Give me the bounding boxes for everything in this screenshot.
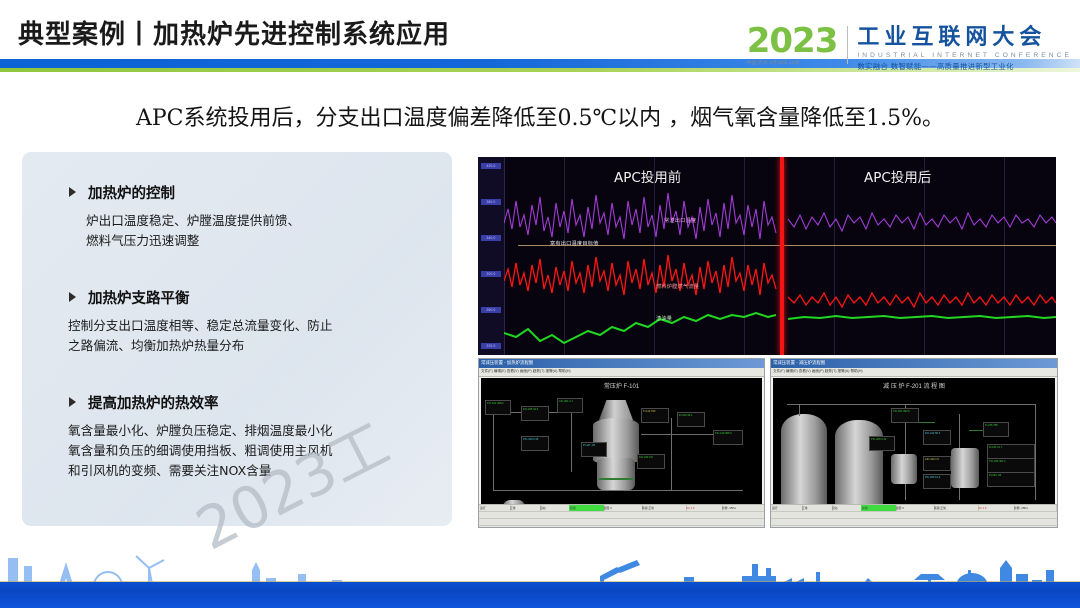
page-title: 典型案例丨加热炉先进控制系统应用 bbox=[18, 14, 450, 51]
dcs-window-title: 常减压装置 - 减压炉流程图 bbox=[773, 360, 825, 366]
status-cell[interactable]: 炉膛 -35Pa bbox=[721, 505, 765, 511]
status-cell[interactable]: 运行 bbox=[771, 505, 803, 511]
dcs-tag[interactable]: FI-220 18.4 bbox=[677, 412, 705, 427]
curve-label-outlet-temp: 常渣出口温度 bbox=[664, 217, 696, 224]
phase-label-after: APC投用后 bbox=[864, 166, 931, 186]
logo-slogan: 数实融合 数智赋能——高质量推进新型工业化 bbox=[857, 61, 1072, 72]
dcs-tag[interactable]: FIC-212 55.3 bbox=[923, 430, 951, 445]
footer-skyline bbox=[0, 550, 1080, 608]
dcs-menu-items: 文件(F) 编辑(E) 查看(V) 画面(P) 趋势(T) 报警(A) 帮助(H… bbox=[481, 369, 571, 374]
logo-year-block: 2023 中国·苏州 8月18日-19日 bbox=[747, 26, 838, 66]
bullet-title: 加热炉的控制 bbox=[88, 182, 175, 203]
bullet-title: 加热炉支路平衡 bbox=[88, 287, 190, 308]
pipe-vertical bbox=[1035, 404, 1036, 500]
y-tick-label: 380.0 bbox=[481, 199, 501, 205]
curve-purple bbox=[504, 193, 776, 239]
dcs-process-diagram: 常压炉 F-101 TIC-101 368.2 FIC-205 42.6 PIC… bbox=[481, 378, 762, 505]
bullet-line: 氧含量最小化、炉膛负压稳定、排烟温度最小化 bbox=[68, 421, 436, 441]
curve-red bbox=[504, 255, 776, 295]
status-row: 运行 正常 自动 投用 报警 0 联锁 正常 O2 1.5 炉膛 -28Pa bbox=[771, 505, 1057, 512]
chart-y-axis: 420.0 380.0 340.0 300.0 260.0 220.0 bbox=[478, 157, 505, 355]
dcs-tag[interactable]: TIC-201 392.5 bbox=[891, 408, 919, 423]
dcs-tag[interactable]: FIC-260 12.3 bbox=[923, 474, 951, 489]
tower-vessel-1 bbox=[781, 414, 827, 505]
phase-label-before: APC投用前 bbox=[614, 166, 681, 186]
bullet-heading: 加热炉支路平衡 bbox=[68, 287, 436, 308]
bullet-heading: 加热炉的控制 bbox=[68, 182, 436, 203]
curve-green bbox=[504, 313, 776, 343]
dcs-tag[interactable]: TI-225 788 bbox=[983, 422, 1009, 437]
dcs-tag[interactable]: PI-117 -35 bbox=[581, 442, 607, 457]
dcs-tag[interactable]: AIC-310 1.5 bbox=[923, 456, 951, 471]
status-cell[interactable]: O2 1.5 bbox=[977, 505, 1015, 511]
bullet-group-1: 加热炉的控制 炉出口温度稳定、炉膛温度提供前馈、 燃料气压力迅速调整 bbox=[68, 182, 436, 251]
logo-divider bbox=[847, 26, 848, 64]
y-tick-label: 340.0 bbox=[481, 235, 501, 241]
dcs-tag[interactable]: FIC-205 42.6 bbox=[521, 406, 549, 421]
bullet-group-3: 提高加热炉的热效率 氧含量最小化、炉膛负压稳定、排烟温度最小化 氧含量和负压的细… bbox=[68, 392, 436, 481]
status-cell[interactable]: 正常 bbox=[801, 505, 833, 511]
status-cell[interactable]: 报警 0 bbox=[603, 505, 643, 511]
bullet-title: 提高加热炉的热效率 bbox=[88, 392, 219, 413]
dcs-tag[interactable]: AIC-301 2.1 bbox=[557, 398, 583, 413]
dcs-screenshot-right[interactable]: 常减压装置 - 减压炉流程图 文件(F) 编辑(E) 查看(V) 画面(P) 趋… bbox=[770, 358, 1058, 528]
bullet-body: 控制分支出口温度相等、稳定总流量变化、防止 之路偏流、均衡加热炉热量分布 bbox=[68, 316, 436, 356]
bullet-body: 炉出口温度稳定、炉膛温度提供前馈、 燃料气压力迅速调整 bbox=[86, 211, 436, 251]
furnace-chamber bbox=[597, 458, 635, 490]
y-tick: 340.0 bbox=[481, 235, 501, 241]
tower-nozzle bbox=[799, 404, 800, 416]
dcs-tag[interactable]: PIC-206 0.42 bbox=[869, 436, 895, 451]
status-cell[interactable]: 自动 bbox=[539, 505, 571, 511]
pipe-horizontal bbox=[493, 490, 743, 491]
status-row bbox=[479, 512, 764, 519]
arrow-right-icon bbox=[68, 397, 79, 408]
dcs-menu-bar[interactable]: 文件(F) 编辑(E) 查看(V) 画面(P) 趋势(T) 报警(A) 帮助(H… bbox=[479, 368, 764, 377]
logo-english-name: INDUSTRIAL INTERNET CONFERENCE bbox=[857, 52, 1072, 59]
bullet-group-2: 加热炉支路平衡 控制分支出口温度相等、稳定总流量变化、防止 之路偏流、均衡加热炉… bbox=[68, 287, 436, 356]
dcs-menu-items: 文件(F) 编辑(E) 查看(V) 画面(P) 趋势(T) 报警(A) 帮助(H… bbox=[773, 369, 863, 374]
arrow-right-icon bbox=[68, 187, 79, 198]
dcs-menu-bar[interactable]: 文件(F) 编辑(E) 查看(V) 画面(P) 趋势(T) 报警(A) 帮助(H… bbox=[771, 368, 1057, 377]
y-tick-label: 260.0 bbox=[481, 307, 501, 313]
furnace-stack bbox=[599, 400, 633, 420]
status-cell[interactable]: O2 1.5 bbox=[685, 505, 723, 511]
status-cell[interactable]: 报警 0 bbox=[895, 505, 935, 511]
status-cell[interactable]: 运行 bbox=[479, 505, 511, 511]
y-tick: 300.0 bbox=[481, 271, 501, 277]
headline-statement: APC系统投用后，分支出口温度偏差降低至0.5℃以内 ，烟气氧含量降低至1.5%… bbox=[0, 100, 1080, 132]
arrow-right-icon bbox=[68, 292, 79, 303]
logo-name-block: 工业互联网大会 INDUSTRIAL INTERNET CONFERENCE 数… bbox=[857, 26, 1072, 72]
pipe-vertical bbox=[671, 418, 672, 490]
pipe-header bbox=[787, 404, 1035, 405]
pipe-vertical bbox=[571, 412, 572, 472]
pipe-vertical bbox=[493, 412, 494, 490]
dcs-tag[interactable]: FI-241 21.7 bbox=[987, 444, 1035, 459]
dcs-tag[interactable]: TIC-101 368.2 bbox=[485, 400, 511, 415]
trend-chart: 420.0 380.0 340.0 300.0 260.0 220.0 富有出口… bbox=[478, 157, 1056, 355]
dcs-tag[interactable]: FIC-233 9.8 bbox=[637, 454, 665, 469]
bullet-line: 燃料气压力迅速调整 bbox=[86, 231, 436, 251]
dcs-tag[interactable]: TI-112 760 bbox=[641, 408, 669, 423]
bullet-panel: 加热炉的控制 炉出口温度稳定、炉膛温度提供前馈、 燃料气压力迅速调整 加热炉支路… bbox=[22, 152, 452, 526]
bullet-line: 炉出口温度稳定、炉膛温度提供前馈、 bbox=[86, 211, 436, 231]
y-tick: 380.0 bbox=[481, 199, 501, 205]
dcs-tag[interactable]: PIC-108 0.35 bbox=[521, 436, 549, 451]
curve-purple-after bbox=[788, 213, 1056, 231]
bullet-line: 氧含量和负压的细调使用挡板、粗调使用主风机 bbox=[68, 441, 436, 461]
bullet-line: 和引风机的变频、需要关注NOX含量 bbox=[68, 461, 436, 481]
y-tick: 420.0 bbox=[481, 163, 501, 169]
y-tick-label: 220.0 bbox=[481, 343, 501, 349]
logo-year: 2023 bbox=[747, 26, 838, 56]
status-cell[interactable]: 投用 bbox=[861, 505, 897, 511]
y-tick-label: 420.0 bbox=[481, 163, 501, 169]
curve-label-target: 富有出口温度目标值 bbox=[550, 240, 599, 247]
dcs-tag[interactable]: TIC-250 401.2 bbox=[987, 458, 1035, 473]
status-cell[interactable]: 正常 bbox=[509, 505, 541, 511]
dcs-screenshot-left[interactable]: 常减压装置 - 加热炉流程图 文件(F) 编辑(E) 查看(V) 画面(P) 趋… bbox=[478, 358, 765, 528]
bullet-line: 之路偏流、均衡加热炉热量分布 bbox=[68, 336, 436, 356]
dcs-screen-title: 减 压 炉 F-201 流 程 图 bbox=[773, 381, 1055, 390]
curve-green-after bbox=[788, 316, 1056, 319]
bullet-line: 控制分支出口温度相等、稳定总流量变化、防止 bbox=[68, 316, 436, 336]
curve-label-fuel-flow: 燃料炉膛燃气流量 bbox=[656, 283, 699, 290]
burner-line bbox=[599, 478, 633, 480]
y-tick-label: 300.0 bbox=[481, 271, 501, 277]
dcs-tag[interactable]: TIC-140 355.0 bbox=[713, 430, 743, 445]
dcs-title-bar: 常减压装置 - 加热炉流程图 bbox=[479, 359, 764, 368]
apc-split-line bbox=[780, 157, 784, 355]
bullet-body: 氧含量最小化、炉膛负压稳定、排烟温度最小化 氧含量和负压的细调使用挡板、粗调使用… bbox=[68, 421, 436, 481]
dcs-process-diagram: 减 压 炉 F-201 流 程 图 TIC-201 392.5 FIC-212 … bbox=[773, 378, 1055, 505]
status-cell[interactable]: 炉膛 -28Pa bbox=[1013, 505, 1057, 511]
dcs-screen-title: 常压炉 F-101 bbox=[481, 381, 762, 390]
chart-plot-area: 富有出口温度目标值 常渣出口温度 燃料炉膛燃气流量 渣油量 APC投用前 APC… bbox=[504, 157, 1056, 355]
logo-chinese-name: 工业互联网大会 bbox=[857, 26, 1072, 50]
exchanger-box bbox=[891, 454, 917, 484]
conference-logo: 2023 中国·苏州 8月18日-19日 工业互联网大会 INDUSTRIAL … bbox=[747, 26, 1072, 72]
dcs-status-bar: 运行 正常 自动 投用 报警 0 联锁 正常 O2 1.5 炉膛 -35Pa bbox=[479, 504, 764, 527]
y-tick: 260.0 bbox=[481, 307, 501, 313]
dcs-window-title: 常减压装置 - 加热炉流程图 bbox=[481, 360, 533, 366]
tower-vessel-2 bbox=[835, 420, 883, 505]
curve-red-after bbox=[788, 293, 1056, 307]
status-row bbox=[771, 512, 1057, 519]
status-cell[interactable]: 投用 bbox=[569, 505, 605, 511]
status-cell[interactable]: 联锁 正常 bbox=[933, 505, 979, 511]
dcs-tag[interactable]: PI-233 -28 bbox=[987, 472, 1035, 487]
sea-band bbox=[0, 582, 1080, 608]
status-cell[interactable]: 自动 bbox=[831, 505, 863, 511]
y-tick: 220.0 bbox=[481, 343, 501, 349]
bullet-heading: 提高加热炉的热效率 bbox=[68, 392, 436, 413]
curve-label-residue-flow: 渣油量 bbox=[656, 315, 672, 322]
status-cell[interactable]: 联锁 正常 bbox=[641, 505, 687, 511]
dcs-title-bar: 常减压装置 - 减压炉流程图 bbox=[771, 359, 1057, 368]
status-row: 运行 正常 自动 投用 报警 0 联锁 正常 O2 1.5 炉膛 -35Pa bbox=[479, 505, 764, 512]
dcs-status-bar: 运行 正常 自动 投用 报警 0 联锁 正常 O2 1.5 炉膛 -28Pa bbox=[771, 504, 1057, 527]
separator-box bbox=[951, 448, 979, 488]
status-row bbox=[479, 519, 764, 526]
status-row bbox=[771, 519, 1057, 526]
